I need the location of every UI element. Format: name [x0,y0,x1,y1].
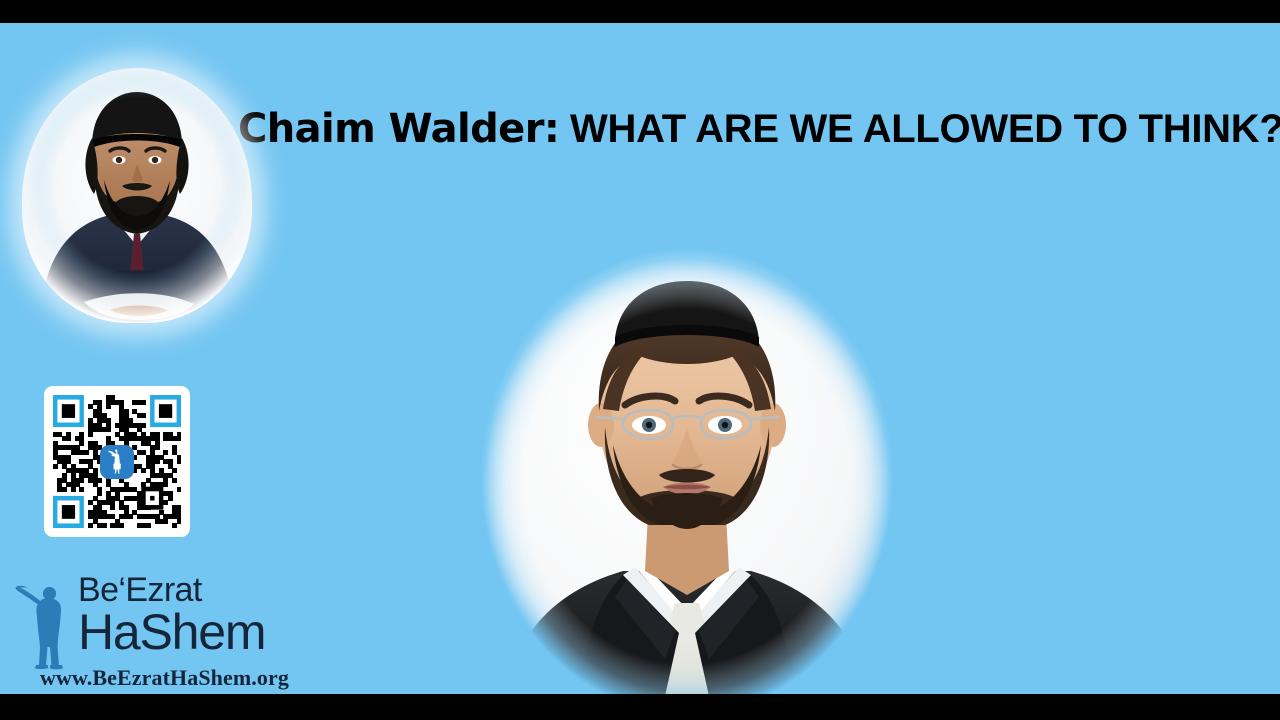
main-portrait-artwork [483,259,891,694]
shofar-blower-icon [106,449,128,475]
speaker-inset-image [22,68,252,323]
main-portrait-image [483,259,891,694]
qr-center-logo [100,445,134,479]
title-question-part: WHAT ARE WE ALLOWED TO THINK? [559,107,1280,151]
video-frame: Chaim Walder: WHAT ARE WE ALLOWED TO THI… [0,0,1280,720]
qr-code-grid [53,395,181,528]
letterbox-top-bar [0,0,1280,23]
shofar-blower-silhouette-icon [14,577,80,675]
brand-line-1: Be‘Ezrat [78,575,265,607]
title-name-part: Chaim Walder: [238,106,559,152]
brand-line-2: HaShem [78,609,265,656]
brand-website-url: www.BeEzratHaShem.org [40,665,289,691]
brand-wordmark: Be‘Ezrat HaShem [78,575,265,656]
video-canvas: Chaim Walder: WHAT ARE WE ALLOWED TO THI… [0,23,1280,694]
letterbox-bottom-bar [0,694,1280,720]
brand-logo: Be‘Ezrat HaShem www.BeEzratHaShem.org [14,575,294,693]
speaker-inset-photo [22,68,252,323]
page-title: Chaim Walder: WHAT ARE WE ALLOWED TO THI… [238,109,1268,149]
main-portrait-photo [483,259,891,694]
qr-code[interactable] [44,386,190,537]
speaker-inset-artwork [22,68,252,323]
